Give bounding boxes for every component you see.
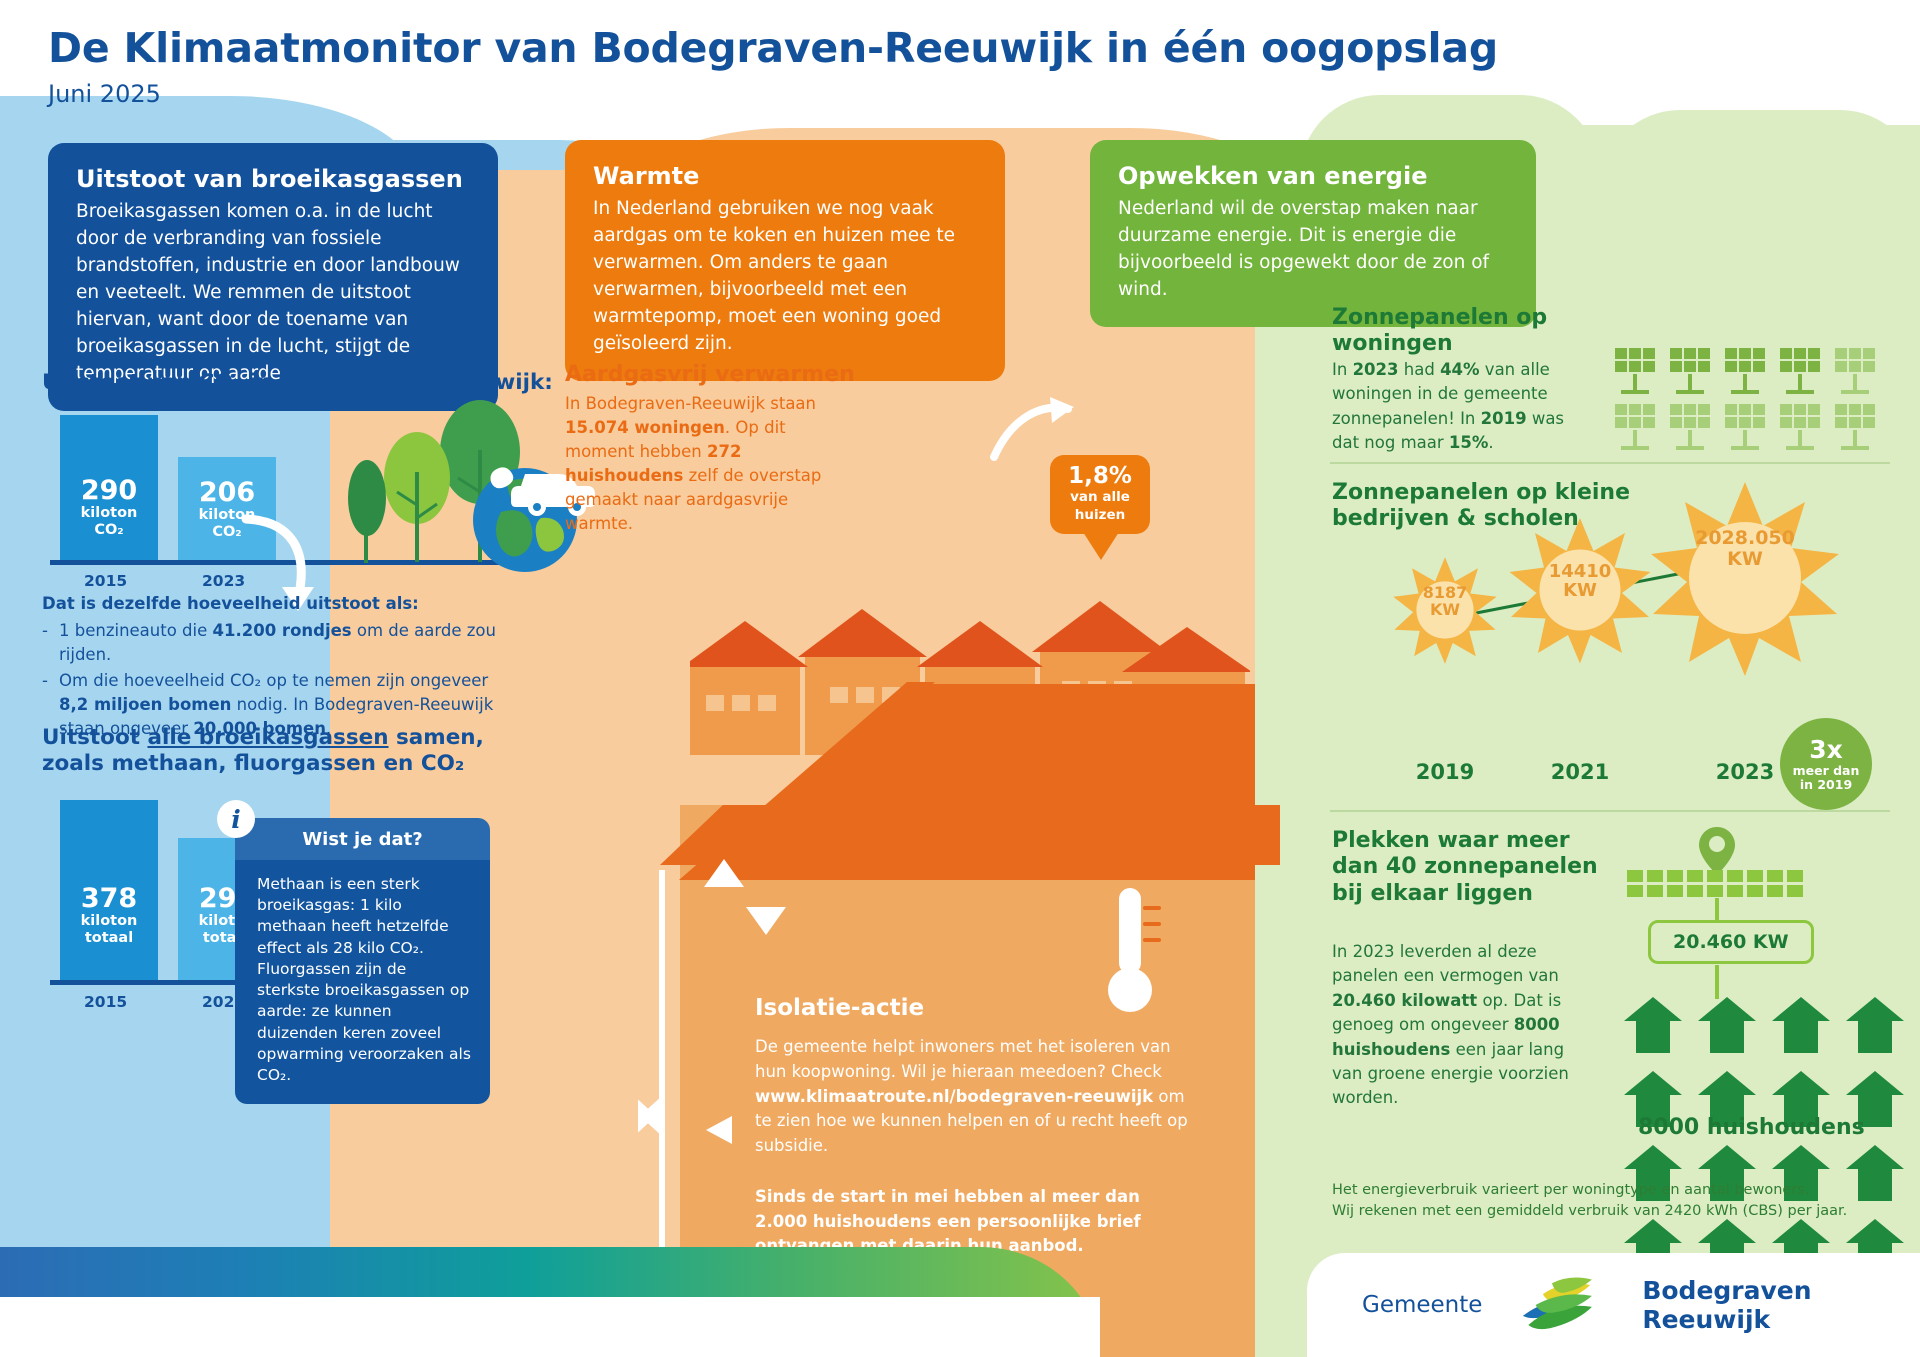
bar-unit1-2015-totaal: kiloton [60, 913, 158, 930]
badge-3x-line2: in 2019 [1800, 778, 1852, 792]
page-header: De Klimaatmonitor van Bodegraven-Reeuwij… [48, 24, 1498, 108]
sun-2023-value: 2028.050KW [1645, 528, 1845, 570]
sun-label-2021: 2021 [1505, 760, 1655, 784]
arrow-down-small-icon [742, 895, 790, 943]
wist-je-dat-body: Methaan is een sterk broeikasgas: 1 kilo… [235, 860, 490, 1104]
bar-value-2023-co2: 206 [178, 479, 276, 507]
page-title: De Klimaatmonitor van Bodegraven-Reeuwij… [48, 24, 1498, 72]
card-title-warmte: Warmte [593, 162, 977, 190]
bottom-white-strip [0, 1297, 1100, 1357]
label-8000-huishoudens: 8000 huishoudens [1638, 1115, 1865, 1140]
wist-je-dat-title: Wist je dat? [235, 818, 490, 860]
arrow-left-right-icon [638, 1080, 682, 1152]
house-icon [1696, 995, 1758, 1057]
page-subtitle: Juni 2025 [48, 80, 1498, 108]
bubble-percent: 1,8% [1056, 464, 1144, 488]
logo-prefix: Gemeente [1362, 1292, 1482, 1318]
connector-line-top [1715, 898, 1719, 922]
chart-co2-label-2015: 2015 [84, 572, 127, 590]
card-body-uitstoot: Broeikasgassen komen o.a. in de lucht do… [76, 198, 470, 387]
bubble-percentage-aardgasvrij: 1,8% van alle huizen [1050, 455, 1150, 534]
card-opwekken-energie: Opwekken van energie Nederland wil de ov… [1090, 140, 1536, 327]
bar-unit1-2015-co2: kiloton [60, 505, 158, 522]
wist-je-dat-panel: i Wist je dat? Methaan is een sterk broe… [235, 818, 490, 1104]
sun-label-2019: 2019 [1390, 760, 1500, 784]
footnote-energieverbruik: Het energieverbruik varieert per woningt… [1332, 1180, 1847, 1222]
card-body-warmte: In Nederland gebruiken we nog vaak aardg… [593, 195, 977, 357]
heading-aardgasvrij-verwarmen: Aardgasvrij verwarmen [565, 362, 855, 387]
card-title-uitstoot: Uitstoot van broeikasgassen [76, 165, 470, 193]
card-title-opwekken: Opwekken van energie [1118, 162, 1508, 190]
bullets-heading: Dat is dezelfde hoeveelheid uitstoot als… [42, 592, 512, 616]
chart-broeikas-label-2015: 2015 [84, 993, 127, 1011]
heading-uitstoot-co2: Uitstoot van CO₂ in Bodegraven-Reeuwijk: [42, 370, 553, 396]
illustration-trees-globe-car [325, 400, 605, 575]
bar-unit2-2015-totaal: totaal [60, 930, 158, 947]
heading-alle-broeikasgassen: Uitstoot alle broeikasgassen samen, zoal… [42, 725, 512, 777]
municipality-logo: Gemeente Bodegraven Reeuwijk [1307, 1253, 1920, 1357]
heading-zonnepanelen-woningen: Zonnepanelen opwoningen [1332, 305, 1547, 358]
bullet-text-1: 1 benzineauto die 41.200 rondjes om de a… [59, 619, 512, 667]
logo-mark-icon [1512, 1271, 1612, 1339]
bullet-item-1: - 1 benzineauto die 41.200 rondjes om de… [42, 619, 512, 667]
bar-2015-co2: 290 kiloton CO₂ [60, 415, 158, 560]
badge-3x-number: 3x [1809, 736, 1843, 764]
house-icon [1844, 1143, 1906, 1205]
bullet-dash-icon: - [42, 619, 50, 667]
kw-pill-label: 20.460 KW [1648, 920, 1814, 964]
card-warmte: Warmte In Nederland gebruiken we nog vaa… [565, 140, 1005, 381]
bar-unit2-2015-co2: CO₂ [60, 522, 158, 539]
footnote-line-2: Wij rekenen met een gemiddeld verbruik v… [1332, 1201, 1847, 1222]
sun-2021-value: 14410KW [1505, 562, 1655, 600]
text-zonnepanelen-woningen: In 2023 had 44% van alle woningen in de … [1332, 358, 1582, 456]
info-icon: i [217, 800, 255, 838]
bubble-label-2: huizen [1056, 508, 1144, 524]
divider-2 [1330, 810, 1890, 812]
infographic-page: De Klimaatmonitor van Bodegraven-Reeuwij… [0, 0, 1920, 1357]
isolatie-actie-paragraph-1: De gemeente helpt inwoners met het isole… [755, 1035, 1195, 1159]
footnote-line-1: Het energieverbruik varieert per woningt… [1332, 1180, 1847, 1201]
text-aardgasvrij: In Bodegraven-Reeuwijk staan 15.074 woni… [565, 392, 845, 536]
badge-3x-line1: meer dan [1793, 764, 1860, 778]
logo-municipality-name: Bodegraven Reeuwijk [1642, 1276, 1920, 1334]
isolatie-url[interactable]: www.klimaatroute.nl/bodegraven-reeuwijk [755, 1087, 1153, 1106]
arrow-left-icon [698, 1110, 738, 1150]
bullets-co2-equivalents: Dat is dezelfde hoeveelheid uitstoot als… [42, 592, 512, 741]
house-icon [1844, 995, 1906, 1057]
house-icon [1622, 995, 1684, 1057]
card-body-opwekken: Nederland wil de overstap maken naar duu… [1118, 195, 1508, 303]
divider-1 [1330, 462, 1890, 464]
bar-value-2015-co2: 290 [60, 477, 158, 505]
text-plekken-zonnepanelen: In 2023 leverden al deze panelen een ver… [1332, 940, 1590, 1111]
bar-2015-totaal: 378 kiloton totaal [60, 800, 158, 980]
bubble-label-1: van alle [1056, 490, 1144, 506]
sun-2023-icon [1645, 478, 1845, 678]
heading-plekken-zonnepanelen: Plekken waar meerdan 40 zonnepanelenbij … [1332, 828, 1598, 907]
bar-value-2015-totaal: 378 [60, 885, 158, 913]
illustration-roof-triangle [635, 650, 1275, 880]
house-icon [1770, 995, 1832, 1057]
connector-line-bottom [1715, 965, 1719, 999]
pictogram-solar-panels-grid [1613, 348, 1913, 458]
sun-2019-value: 8187KW [1390, 585, 1500, 619]
arrow-up-small-icon [700, 855, 748, 911]
badge-3x-more: 3x meer dan in 2019 [1780, 718, 1872, 810]
isolatie-actie-text: Isolatie-actie De gemeente helpt inwoner… [755, 995, 1195, 1259]
isolatie-actie-title: Isolatie-actie [755, 995, 1195, 1021]
solar-strip-icon [1625, 868, 1815, 902]
